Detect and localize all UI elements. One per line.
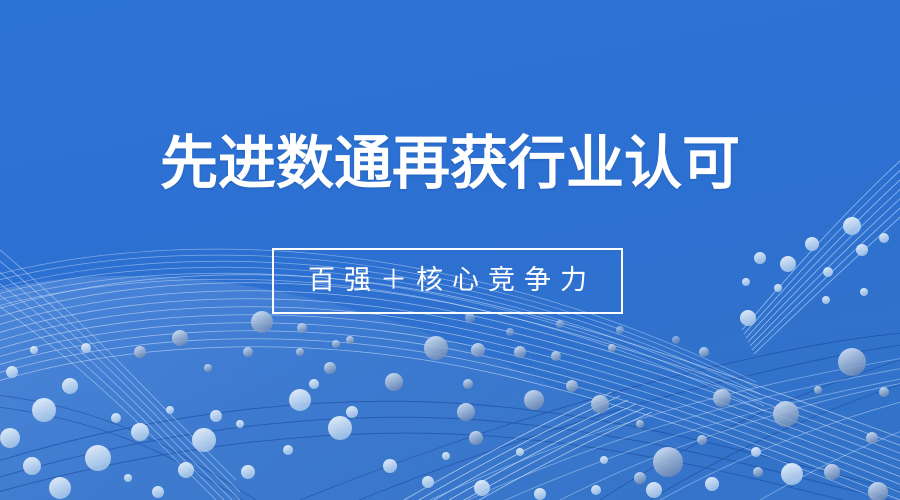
subtitle-badge: 百强＋核心竞争力: [272, 248, 623, 314]
page-title: 先进数通再获行业认可: [0, 132, 900, 194]
promo-banner: 先进数通再获行业认可 百强＋核心竞争力: [0, 0, 900, 500]
subtitle-text: 百强＋核心竞争力: [299, 266, 596, 296]
banner-content: 先进数通再获行业认可 百强＋核心竞争力: [0, 0, 900, 500]
